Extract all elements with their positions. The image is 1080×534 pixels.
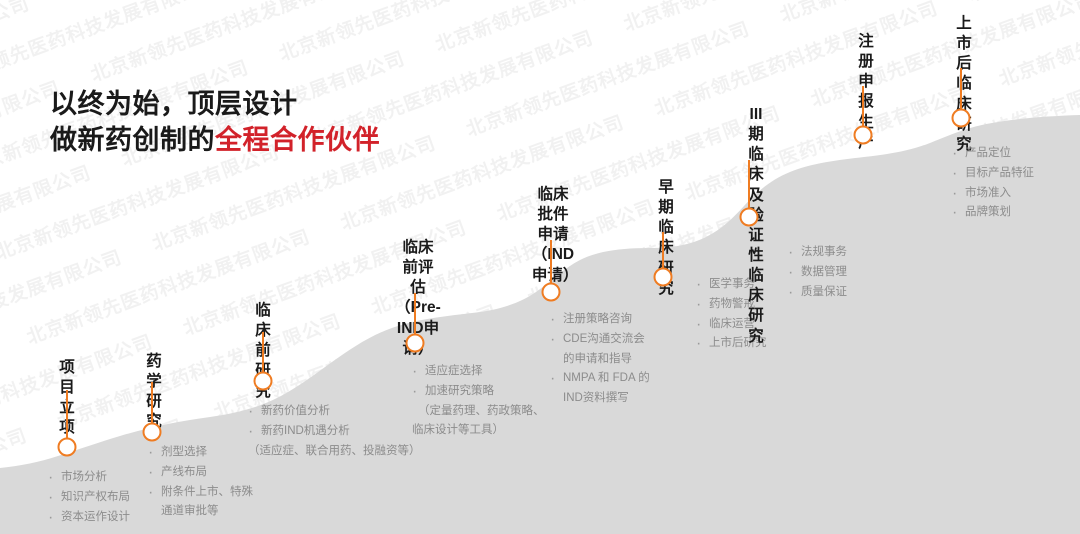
list-item: 附条件上市、特殊 bbox=[148, 483, 253, 503]
list-item: 的申请和指导 bbox=[550, 350, 650, 370]
stage-bullets-ind-application: 注册策略咨询 CDE沟通交流会 的申请和指导 NMPA 和 FDA 的 IND资… bbox=[550, 310, 650, 409]
headline-line-1: 以终为始，顶层设计 bbox=[50, 86, 380, 122]
stage-bullets-post-marketing-clinical: 产品定位 目标产品特征 市场准入 品牌策划 bbox=[952, 144, 1034, 223]
list-item: 数据管理 bbox=[788, 263, 847, 283]
stage-dot-early-clinical-research[interactable] bbox=[654, 268, 673, 287]
stage-dot-pharmaceutical-research[interactable] bbox=[143, 423, 162, 442]
watermark-row: 北京新领先医药科技发展有限公司北京新领先医药科技发展有限公司北京新领先医药科技发… bbox=[0, 0, 1080, 39]
headline-line-2-plain: 做新药创制的 bbox=[50, 125, 215, 155]
list-item: 市场分析 bbox=[48, 468, 130, 488]
stage-dot-phase3-confirmatory[interactable] bbox=[740, 208, 759, 227]
stage-dot-project-initiation[interactable] bbox=[58, 438, 77, 457]
list-item: 临床设计等工具） bbox=[412, 421, 545, 441]
list-item: 品牌策划 bbox=[952, 203, 1034, 223]
list-item: 剂型选择 bbox=[148, 443, 253, 463]
stage-stem-pharmaceutical-research bbox=[151, 382, 153, 423]
stage-stem-phase3-confirmatory bbox=[748, 160, 750, 208]
list-item: NMPA 和 FDA 的 bbox=[550, 369, 650, 389]
list-item: 市场准入 bbox=[952, 184, 1034, 204]
list-item: 新药IND机遇分析 bbox=[248, 422, 421, 442]
stage-stem-preclinical-assessment bbox=[414, 293, 416, 334]
headline-line-2: 做新药创制的全程合作伙伴 bbox=[50, 122, 380, 158]
stage-stem-early-clinical-research bbox=[662, 232, 664, 269]
list-item: 目标产品特征 bbox=[952, 164, 1034, 184]
watermark-row: 北京新领先医药科技发展有限公司北京新领先医药科技发展有限公司北京新领先医药科技发… bbox=[0, 0, 1080, 82]
stage-dot-registration-production[interactable] bbox=[854, 126, 873, 145]
slide-canvas: 北京新领先医药科技发展有限公司北京新领先医药科技发展有限公司北京新领先医药科技发… bbox=[0, 0, 1080, 534]
stage-label-ind-application: 临床批件申请 （IND申请） bbox=[532, 185, 574, 286]
list-item: （定量药理、药政策略、 bbox=[412, 402, 545, 422]
stage-stem-ind-application bbox=[550, 240, 552, 283]
stage-bullets-preclinical-research: 新药价值分析 新药IND机遇分析 （适应症、联合用药、投融资等） bbox=[248, 402, 421, 461]
list-item: （适应症、联合用药、投融资等） bbox=[248, 442, 421, 462]
list-item: 适应症选择 bbox=[412, 362, 545, 382]
stage-stem-post-marketing-clinical bbox=[960, 68, 962, 110]
list-item: CDE沟通交流会 bbox=[550, 330, 650, 350]
stage-dot-ind-application[interactable] bbox=[542, 283, 561, 302]
stage-dot-post-marketing-clinical[interactable] bbox=[952, 109, 971, 128]
stage-dot-preclinical-assessment[interactable] bbox=[406, 334, 425, 353]
list-item: 注册策略咨询 bbox=[550, 310, 650, 330]
stage-stem-registration-production bbox=[862, 86, 864, 127]
stage-bullets-pharmaceutical-research: 剂型选择 产线布局 附条件上市、特殊 通道审批等 bbox=[148, 443, 253, 522]
page-title: 以终为始，顶层设计 做新药创制的全程合作伙伴 bbox=[50, 86, 380, 158]
stage-dot-preclinical-research[interactable] bbox=[254, 372, 273, 391]
list-item: 法规事务 bbox=[788, 243, 847, 263]
list-item: IND资料撰写 bbox=[550, 389, 650, 409]
list-item: 资本运作设计 bbox=[48, 508, 130, 528]
stage-label-pharmaceutical-research: 药学研究 bbox=[146, 352, 162, 433]
stage-label-post-marketing-clinical: 上市后 临床研究 bbox=[956, 14, 972, 155]
stage-stem-preclinical-research bbox=[262, 332, 264, 372]
stage-bullets-project-initiation: 市场分析 知识产权布局 资本运作设计 bbox=[48, 468, 130, 527]
list-item: 质量保证 bbox=[788, 283, 847, 303]
list-item: 通道审批等 bbox=[148, 502, 253, 522]
headline-line-2-accent: 全程合作伙伴 bbox=[215, 125, 380, 155]
stage-stem-project-initiation bbox=[66, 390, 68, 438]
stage-bullets-preclinical-assessment: 适应症选择 加速研究策略 （定量药理、药政策略、 临床设计等工具） bbox=[412, 362, 545, 441]
stage-bullets-phase3-confirmatory: 法规事务 数据管理 质量保证 bbox=[788, 243, 847, 302]
list-item: 产线布局 bbox=[148, 463, 253, 483]
list-item: 产品定位 bbox=[952, 144, 1034, 164]
list-item: 知识产权布局 bbox=[48, 488, 130, 508]
list-item: 新药价值分析 bbox=[248, 402, 421, 422]
list-item: 加速研究策略 bbox=[412, 382, 545, 402]
